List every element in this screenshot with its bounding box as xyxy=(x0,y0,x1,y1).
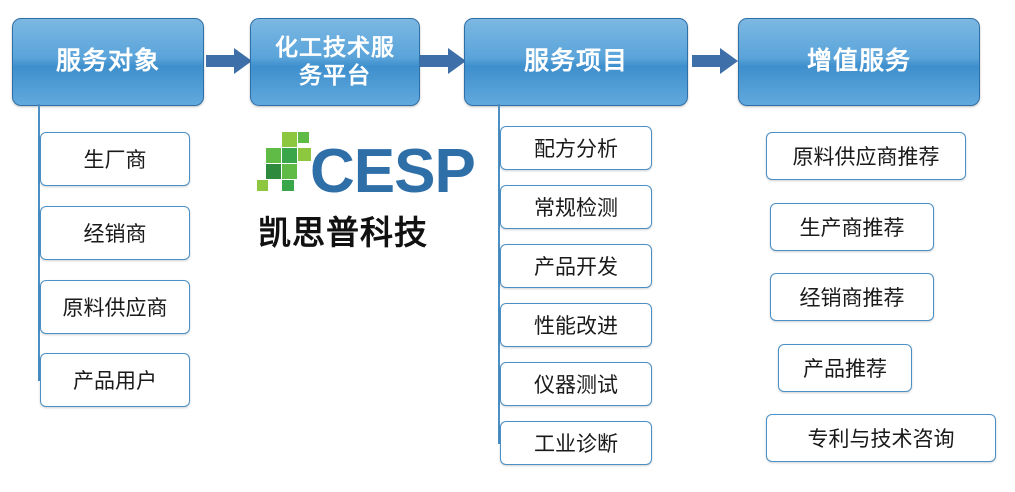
item-service-items-2-label: 常规检测 xyxy=(534,192,618,222)
item-service-items-4-label: 性能改进 xyxy=(534,310,618,340)
header-value-added-label: 增值服务 xyxy=(807,47,911,77)
item-value-added-2-label: 生产商推荐 xyxy=(800,212,905,242)
item-service-target-1-label: 生厂商 xyxy=(84,144,147,174)
item-value-added-4-label: 产品推荐 xyxy=(803,353,887,383)
header-platform-label-line2: 务平台 xyxy=(275,62,395,90)
item-value-added-3-label: 经销商推荐 xyxy=(800,282,905,312)
item-service-target-3[interactable]: 原料供应商 xyxy=(40,280,190,334)
item-service-items-5[interactable]: 仪器测试 xyxy=(500,362,652,406)
diagram-canvas: 服务对象 生厂商 经销商 原料供应商 产品用户 化工技术服 务平台 xyxy=(0,0,1015,492)
cesp-logo-chinese: 凯思普科技 xyxy=(258,206,428,254)
item-service-target-3-label: 原料供应商 xyxy=(63,292,168,322)
item-service-items-6[interactable]: 工业诊断 xyxy=(500,421,652,465)
arrow-2-icon xyxy=(420,48,466,74)
header-service-items-label: 服务项目 xyxy=(524,47,628,77)
header-value-added[interactable]: 增值服务 xyxy=(738,18,980,106)
cesp-logo-latin: CESP xyxy=(310,136,475,207)
item-value-added-2[interactable]: 生产商推荐 xyxy=(770,203,934,251)
header-service-target-label: 服务对象 xyxy=(56,47,160,77)
item-service-items-1-label: 配方分析 xyxy=(534,133,618,163)
item-service-target-2[interactable]: 经销商 xyxy=(40,206,190,260)
item-value-added-4[interactable]: 产品推荐 xyxy=(778,344,912,392)
item-service-items-5-label: 仪器测试 xyxy=(534,369,618,399)
arrow-1-icon xyxy=(206,48,252,74)
header-service-items[interactable]: 服务项目 xyxy=(464,18,688,106)
item-service-items-2[interactable]: 常规检测 xyxy=(500,185,652,229)
arrow-3-icon xyxy=(692,48,738,74)
item-service-target-4[interactable]: 产品用户 xyxy=(40,353,190,407)
header-platform-label-line1: 化工技术服 xyxy=(275,34,395,62)
item-service-items-1[interactable]: 配方分析 xyxy=(500,126,652,170)
item-value-added-5[interactable]: 专利与技术咨询 xyxy=(766,414,996,462)
item-service-target-4-label: 产品用户 xyxy=(73,365,157,395)
item-service-items-6-label: 工业诊断 xyxy=(534,428,618,458)
item-service-items-3[interactable]: 产品开发 xyxy=(500,244,652,288)
item-value-added-1-label: 原料供应商推荐 xyxy=(793,141,940,171)
item-value-added-5-label: 专利与技术咨询 xyxy=(808,423,955,453)
item-value-added-3[interactable]: 经销商推荐 xyxy=(770,273,934,321)
item-service-target-2-label: 经销商 xyxy=(84,218,147,248)
cesp-logo: CESP 凯思普科技 xyxy=(248,130,438,260)
header-platform[interactable]: 化工技术服 务平台 xyxy=(250,18,420,106)
item-value-added-1[interactable]: 原料供应商推荐 xyxy=(766,132,966,180)
header-service-target[interactable]: 服务对象 xyxy=(12,18,204,106)
item-service-items-3-label: 产品开发 xyxy=(534,251,618,281)
item-service-target-1[interactable]: 生厂商 xyxy=(40,132,190,186)
item-service-items-4[interactable]: 性能改进 xyxy=(500,303,652,347)
